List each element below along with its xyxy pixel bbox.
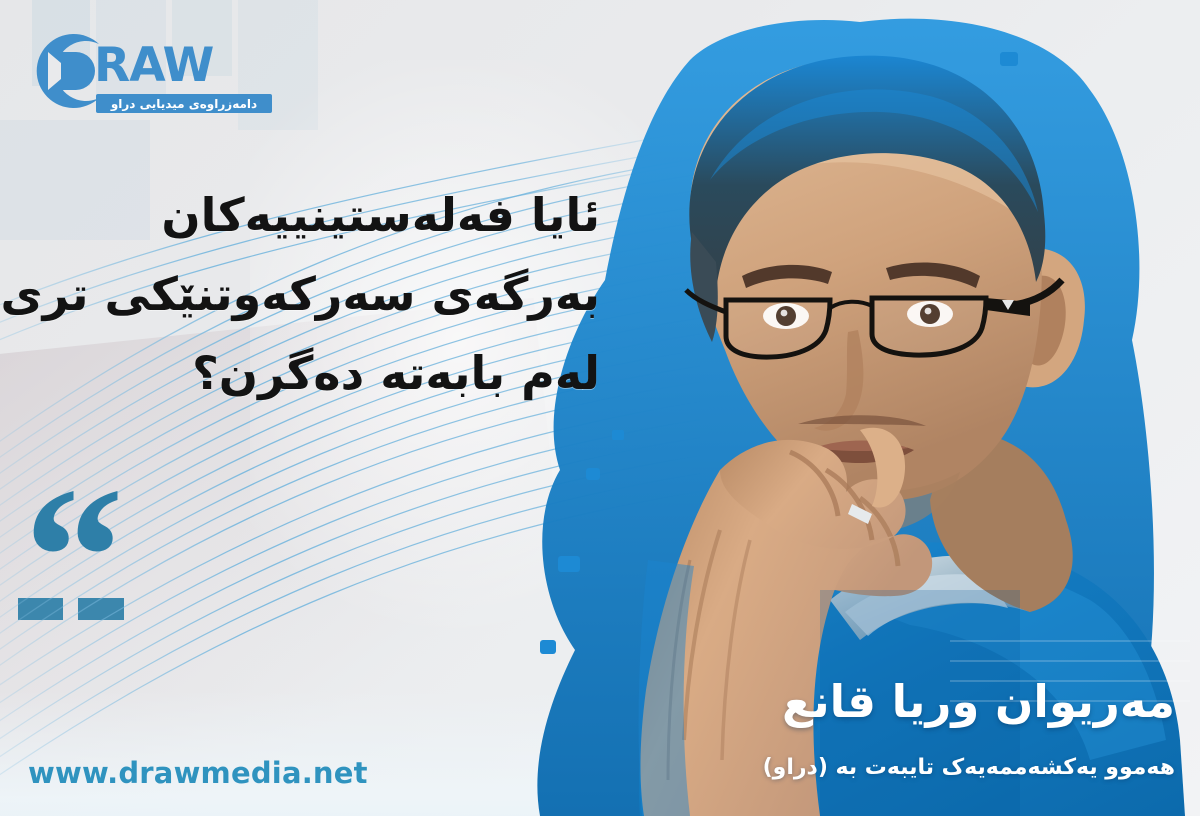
brand-logo[interactable]: RAW دامەزراوەی میدیایی دراو — [28, 26, 278, 112]
logo-wordmark: RAW — [94, 42, 213, 89]
poster-canvas: RAW دامەزراوەی میدیایی دراو — [0, 0, 1200, 816]
quotation-mark-icon: “ — [24, 486, 128, 630]
headline-line-1: ئایا فەلەستینییەکان — [0, 176, 600, 255]
website-url[interactable]: www.drawmedia.net — [28, 756, 368, 790]
logo-raw-text: RAW — [94, 42, 213, 89]
logo-tagline-bar: دامەزراوەی میدیایی دراو — [96, 94, 272, 113]
headline: ئایا فەلەستینییەکان بەرگەی سەرکەوتنێکی ت… — [0, 176, 600, 413]
speaker-name: مەریوان وریا قانع — [782, 679, 1175, 724]
headline-line-2: بەرگەی سەرکەوتنێکی تری — [0, 255, 600, 334]
headline-line-3: لەم بابەتە دەگرن؟ — [0, 334, 600, 413]
speaker-subtitle: هەموو یەکشەممەیەک تایبەت بە (دراو) — [763, 757, 1175, 779]
logo-tagline-text: دامەزراوەی میدیایی دراو — [111, 97, 257, 111]
